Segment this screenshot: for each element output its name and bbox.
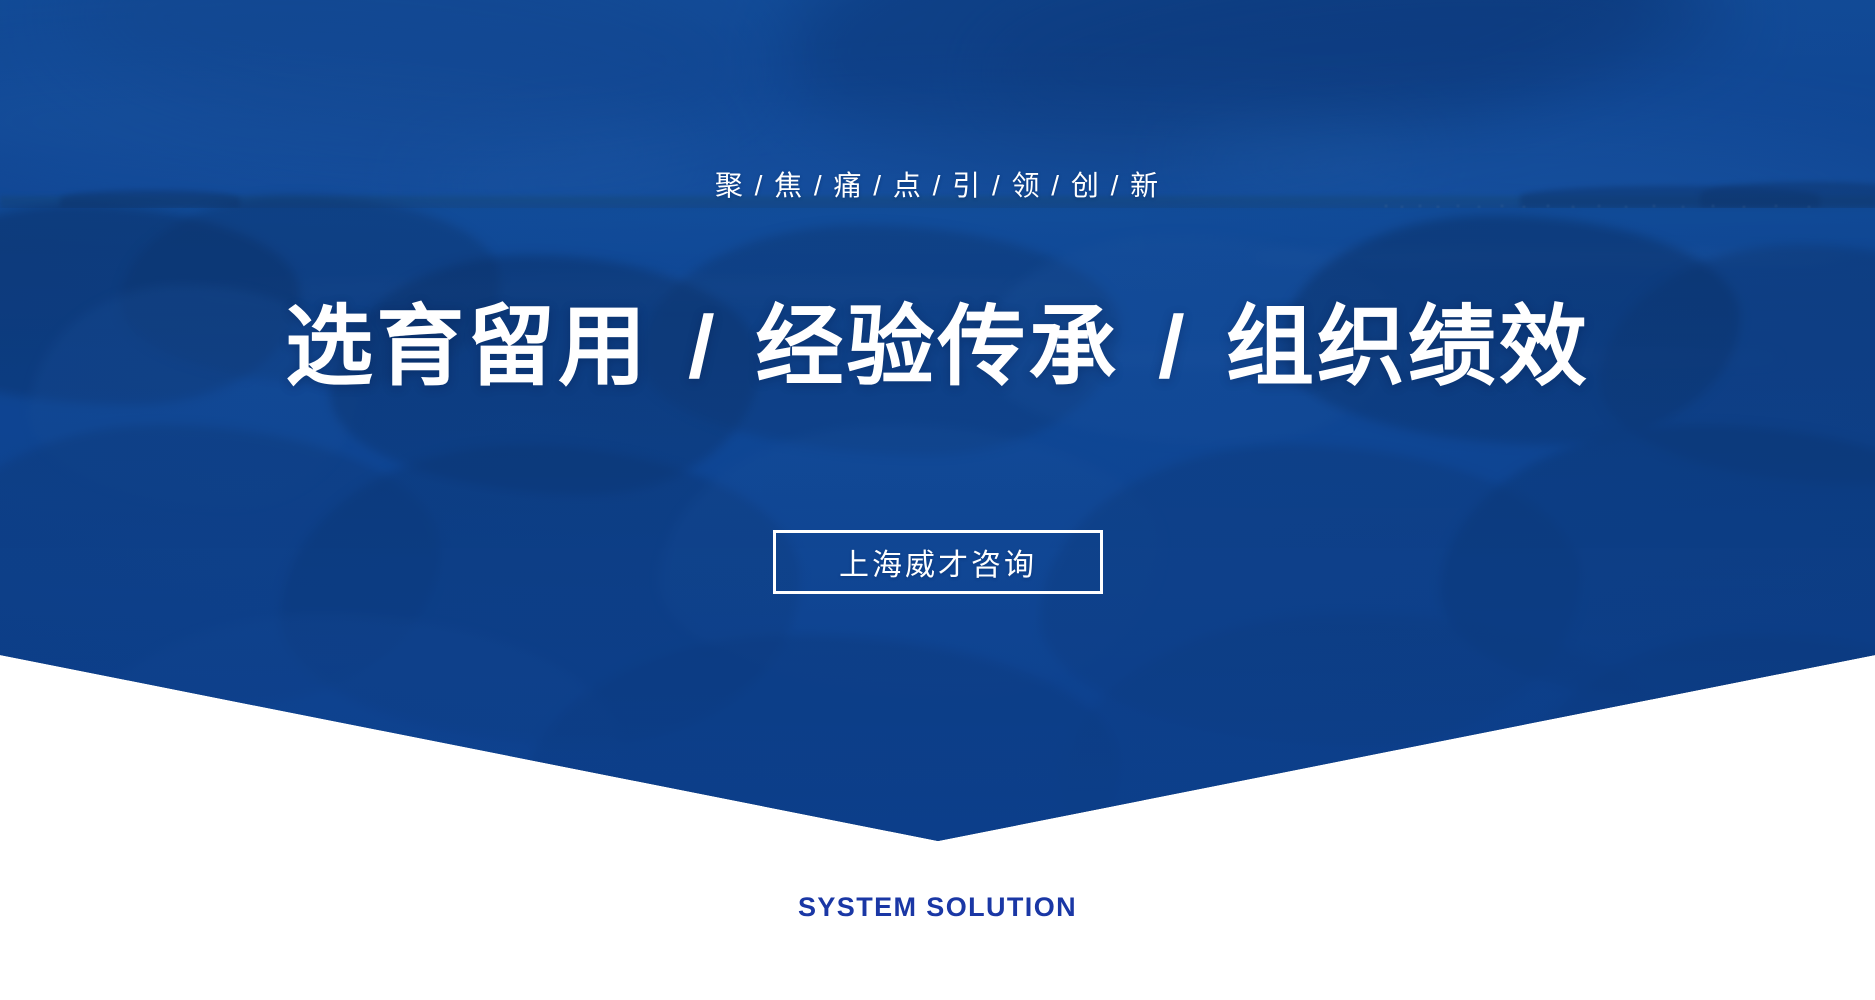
headline-separator-1: /: [675, 298, 730, 397]
banner-headline: 选育留用 / 经验传承 / 组织绩效: [0, 298, 1875, 397]
hero-banner: 聚 / 焦 / 痛 / 点 / 引 / 领 / 创 / 新 选育留用 / 经验传…: [0, 0, 1875, 1000]
headline-part-2: 经验传承: [755, 297, 1119, 396]
banner-content: 聚 / 焦 / 痛 / 点 / 引 / 领 / 创 / 新 选育留用 / 经验传…: [0, 0, 1875, 1000]
company-cta-button[interactable]: 上海威才咨询: [773, 530, 1103, 594]
headline-part-1: 选育留用: [285, 297, 649, 396]
banner-subtitle: 聚 / 焦 / 痛 / 点 / 引 / 领 / 创 / 新: [0, 172, 1875, 200]
headline-separator-2: /: [1145, 298, 1200, 397]
footer-tagline: SYSTEM SOLUTION: [0, 894, 1875, 921]
headline-part-3: 组织绩效: [1226, 297, 1590, 396]
